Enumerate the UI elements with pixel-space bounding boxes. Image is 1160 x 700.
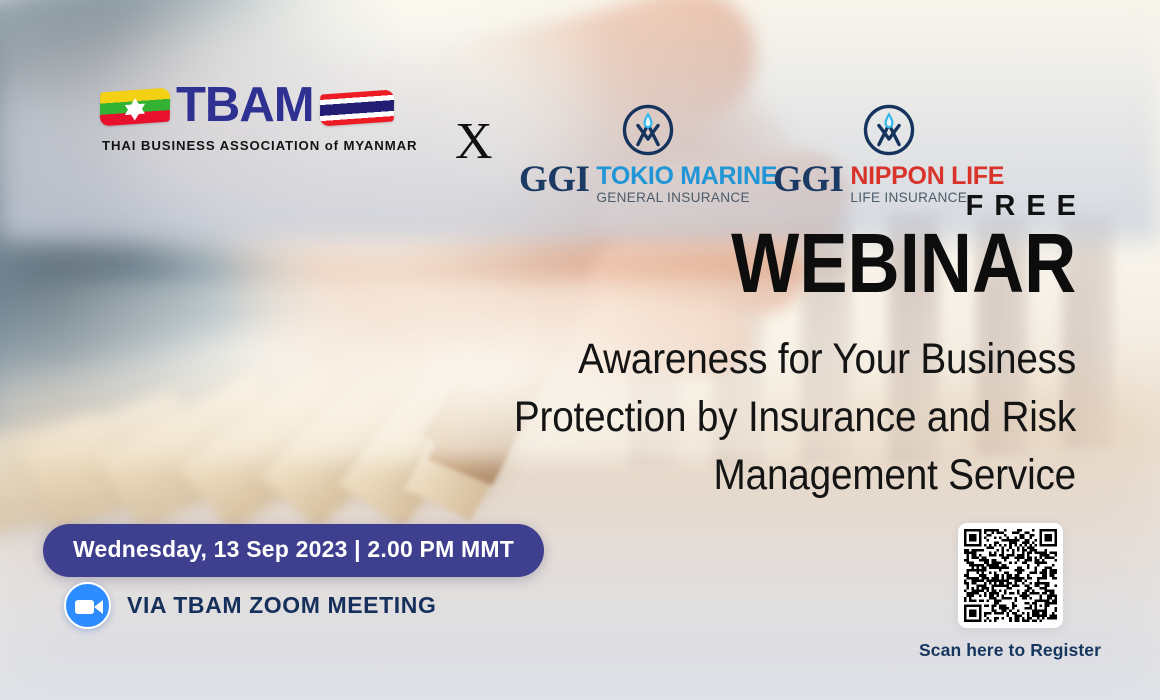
subtitle-line-1: Awareness for Your Business	[500, 330, 1076, 388]
ggi-monogram-icon	[861, 102, 917, 158]
ggi-brand-name: TOKIO MARINE	[596, 164, 777, 190]
ggi-nippon-life-logo: GGI NIPPON LIFE LIFE INSURANCE	[781, 102, 996, 206]
myanmar-flag-icon	[100, 88, 171, 127]
logo-row: TBAM THAI BUSINESS ASSOCIATION of MYANMA…	[0, 48, 1160, 168]
event-platform-row: VIA TBAM ZOOM MEETING	[64, 582, 436, 629]
qr-caption: Scan here to Register	[919, 640, 1101, 661]
partnership-x-separator: X	[455, 116, 493, 168]
headline-block: FREE WEBINAR	[675, 192, 1076, 302]
ggi-tokio-marine-logo: GGI TOKIO MARINE GENERAL INSURANCE	[528, 102, 768, 206]
tbam-wordmark: TBAM	[176, 81, 314, 130]
register-qr-block: Scan here to Register	[919, 523, 1101, 661]
headline-title: WEBINAR	[731, 225, 1076, 302]
event-platform-label: VIA TBAM ZOOM MEETING	[127, 592, 436, 619]
ggi-monogram-icon	[620, 102, 676, 158]
qr-code[interactable]	[958, 523, 1063, 628]
ggi-abbreviation: GGI	[519, 162, 589, 197]
webinar-subtitle: Awareness for Your Business Protection b…	[436, 330, 1076, 504]
event-datetime-badge: Wednesday, 13 Sep 2023 | 2.00 PM MMT	[43, 524, 544, 577]
thailand-flag-icon	[319, 89, 394, 126]
tbam-tagline: THAI BUSINESS ASSOCIATION of MYANMAR	[102, 138, 430, 153]
tbam-logo-top: TBAM	[100, 76, 430, 134]
subtitle-line-2: Protection by Insurance and Risk	[500, 388, 1076, 446]
subtitle-line-3: Management Service	[500, 446, 1076, 504]
tbam-logo: TBAM THAI BUSINESS ASSOCIATION of MYANMA…	[100, 76, 430, 153]
zoom-video-camera-icon	[64, 582, 111, 629]
ggi-brand-name: NIPPON LIFE	[850, 164, 1004, 190]
webinar-banner: TBAM THAI BUSINESS ASSOCIATION of MYANMA…	[0, 0, 1160, 700]
